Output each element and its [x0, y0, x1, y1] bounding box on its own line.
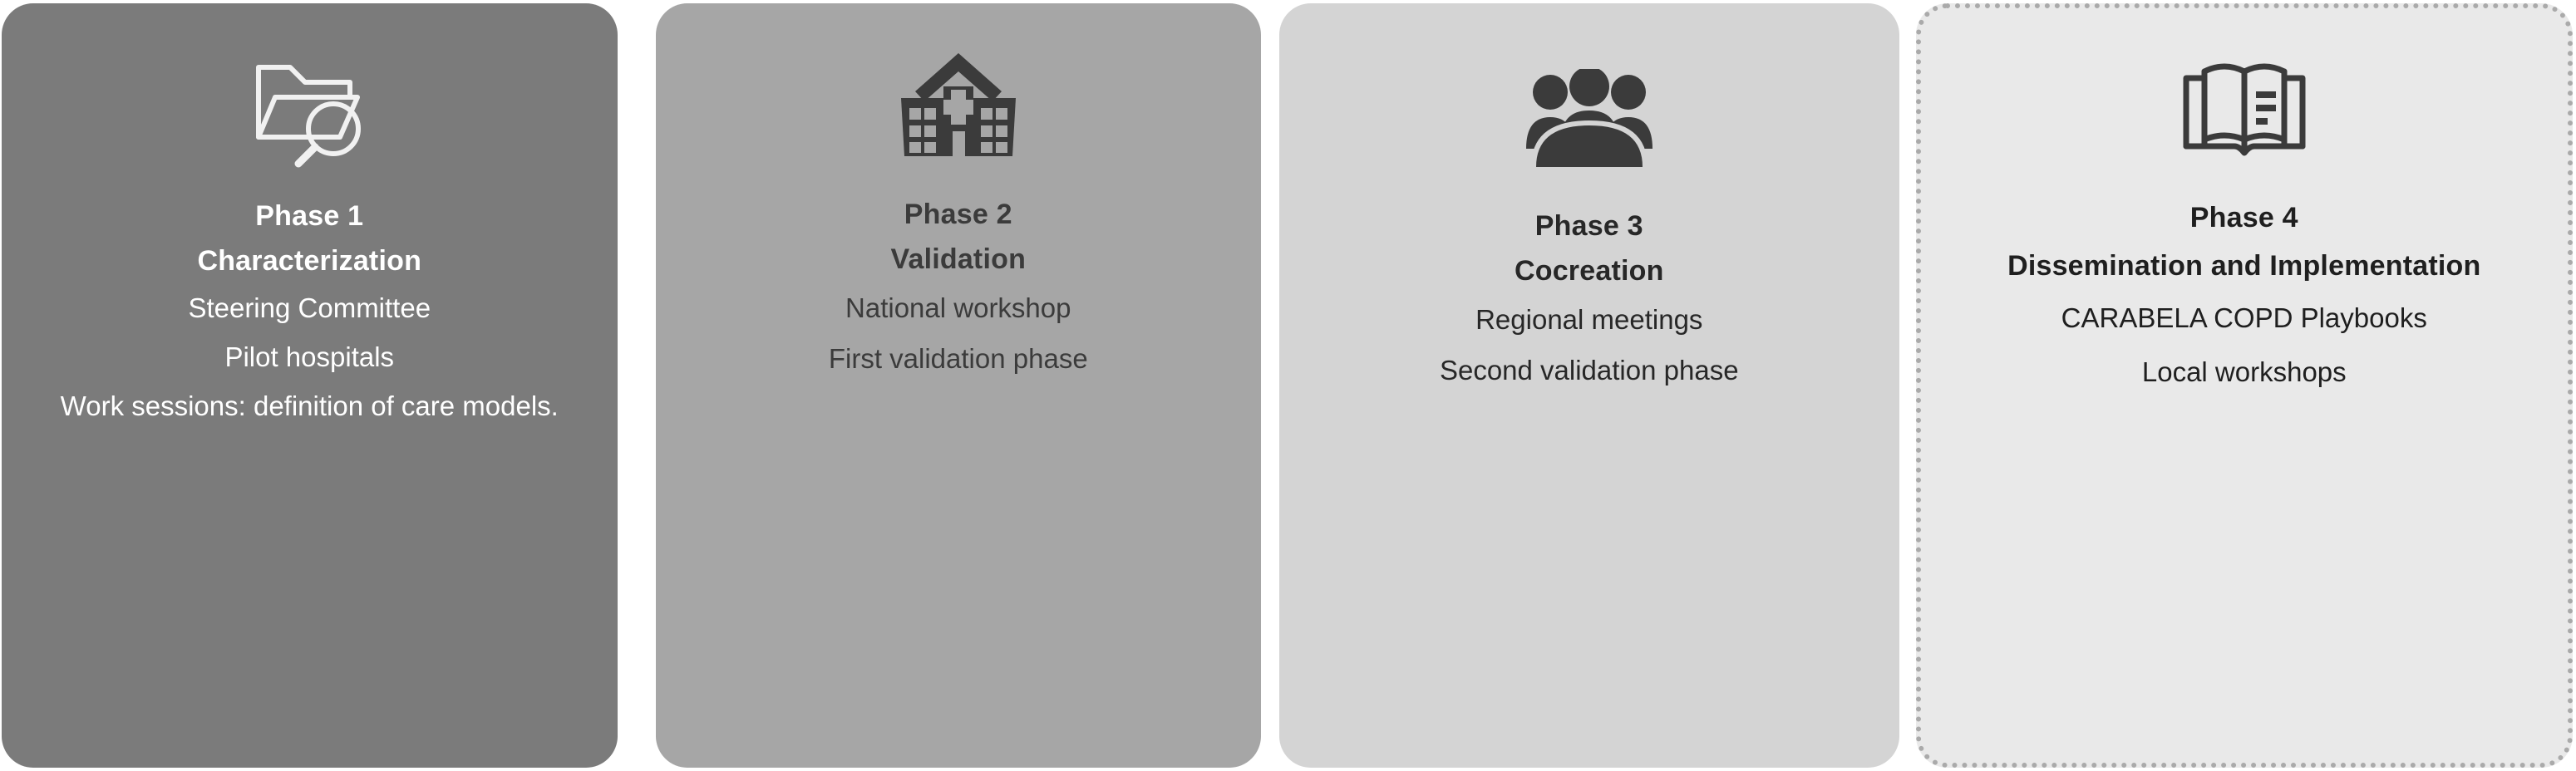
phase-label: Phase 3 [1288, 208, 1891, 244]
phase-bullet: Work sessions: definition of care models… [10, 387, 609, 426]
phase-label: Phase 1 [10, 198, 609, 234]
phase-bullet: National workshop [664, 289, 1254, 328]
folder-search-icon [247, 42, 372, 174]
phase-bullet: First validation phase [664, 340, 1254, 379]
phase-bullet: Second validation phase [1288, 351, 1891, 390]
people-group-icon [1523, 52, 1656, 184]
phase-name: Cocreation [1288, 253, 1891, 289]
phase-label: Phase 2 [664, 196, 1254, 233]
phase-name: Validation [664, 241, 1254, 277]
phase-text-block-4: Phase 4 Dissemination and Implementation… [1921, 199, 2568, 392]
phase-card-4[interactable]: Phase 4 Dissemination and Implementation… [1916, 3, 2573, 768]
phase-text-block-3: Phase 3 Cocreation Regional meetings Sec… [1279, 208, 1899, 390]
phase-name: Dissemination and Implementation [1929, 248, 2559, 284]
hospital-building-icon [896, 40, 1021, 173]
phase-bullet: Regional meetings [1288, 301, 1891, 340]
phase-name: Characterization [10, 243, 609, 279]
phases-diagram: Phase 1 Characterization Steering Commit… [0, 0, 2576, 771]
phase-text-block-2: Phase 2 Validation National workshop Fir… [656, 196, 1262, 379]
phase-bullet: Pilot hospitals [10, 338, 609, 377]
phase-bullet: Local workshops [1929, 353, 2559, 392]
phase-bullet: CARABELA COPD Playbooks [1929, 299, 2559, 338]
phase-card-2[interactable]: Phase 2 Validation National workshop Fir… [656, 3, 1262, 768]
phase-card-1[interactable]: Phase 1 Characterization Steering Commit… [2, 3, 618, 768]
phase-label: Phase 4 [1929, 199, 2559, 236]
phase-bullet: Steering Committee [10, 289, 609, 328]
phase-card-3[interactable]: Phase 3 Cocreation Regional meetings Sec… [1279, 3, 1899, 768]
open-book-icon [2180, 43, 2309, 176]
phase-text-block-1: Phase 1 Characterization Steering Commit… [2, 198, 618, 426]
